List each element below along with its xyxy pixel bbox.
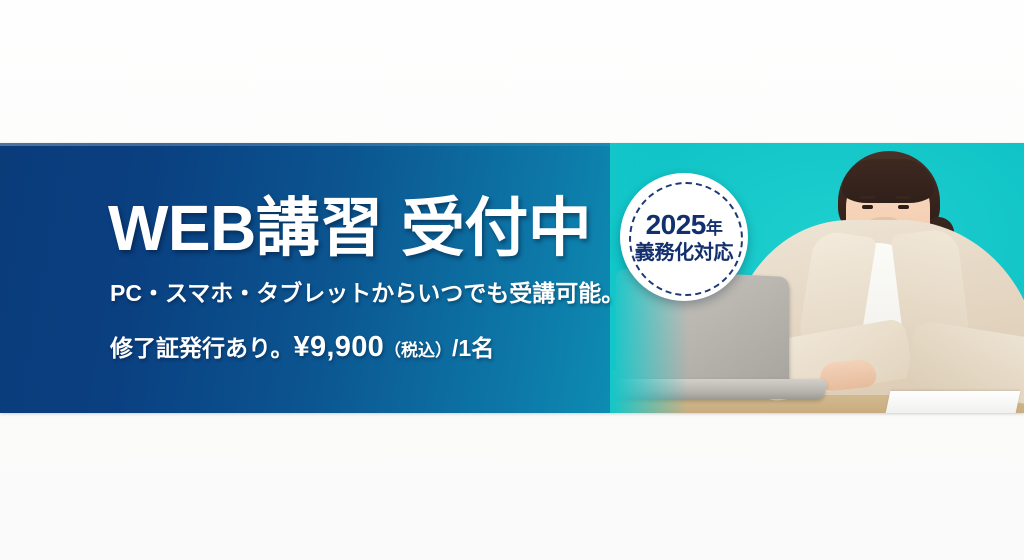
page-canvas: 2025年 義務化対応 WEB講習受付中 PC・スマホ・タブレットからいつでも受… — [0, 0, 1024, 560]
eye-left — [862, 205, 873, 209]
banner-copy-block: WEB講習受付中 PC・スマホ・タブレットからいつでも受講可能。 修了証発行あり… — [108, 195, 668, 370]
badge-text: 2025年 義務化対応 — [635, 208, 734, 266]
eyebrow-right — [896, 196, 911, 199]
banner-headline: WEB講習受付中 — [108, 195, 668, 262]
badge-year: 2025年 — [635, 208, 734, 241]
badge-caption: 義務化対応 — [635, 242, 734, 266]
subtext-prefix: 修了証発行あり。 — [110, 335, 294, 361]
web-course-enrollment-banner[interactable]: 2025年 義務化対応 WEB講習受付中 PC・スマホ・タブレットからいつでも受… — [0, 143, 1024, 413]
eyebrow-left — [860, 196, 875, 199]
badge-year-number: 2025 — [646, 209, 706, 240]
eye-right — [898, 205, 909, 209]
bangs-shape — [842, 159, 934, 203]
certification-badge: 2025年 義務化対応 — [620, 173, 748, 301]
banner-subtext-line1: PC・スマホ・タブレットからいつでも受講可能。 — [110, 276, 668, 312]
tax-note: （税込） — [384, 341, 452, 360]
headline-part2: 受付中 — [401, 192, 592, 264]
laptop-base — [611, 379, 829, 399]
per-person-note: /1名 — [452, 335, 494, 361]
banner-subtext-line2: 修了証発行あり。¥9,900（税込）/1名 — [110, 325, 668, 370]
headline-part1: WEB講習 — [108, 192, 383, 264]
badge-year-suffix: 年 — [706, 219, 723, 238]
course-price: ¥9,900 — [294, 331, 385, 363]
paper-document — [886, 391, 1021, 413]
